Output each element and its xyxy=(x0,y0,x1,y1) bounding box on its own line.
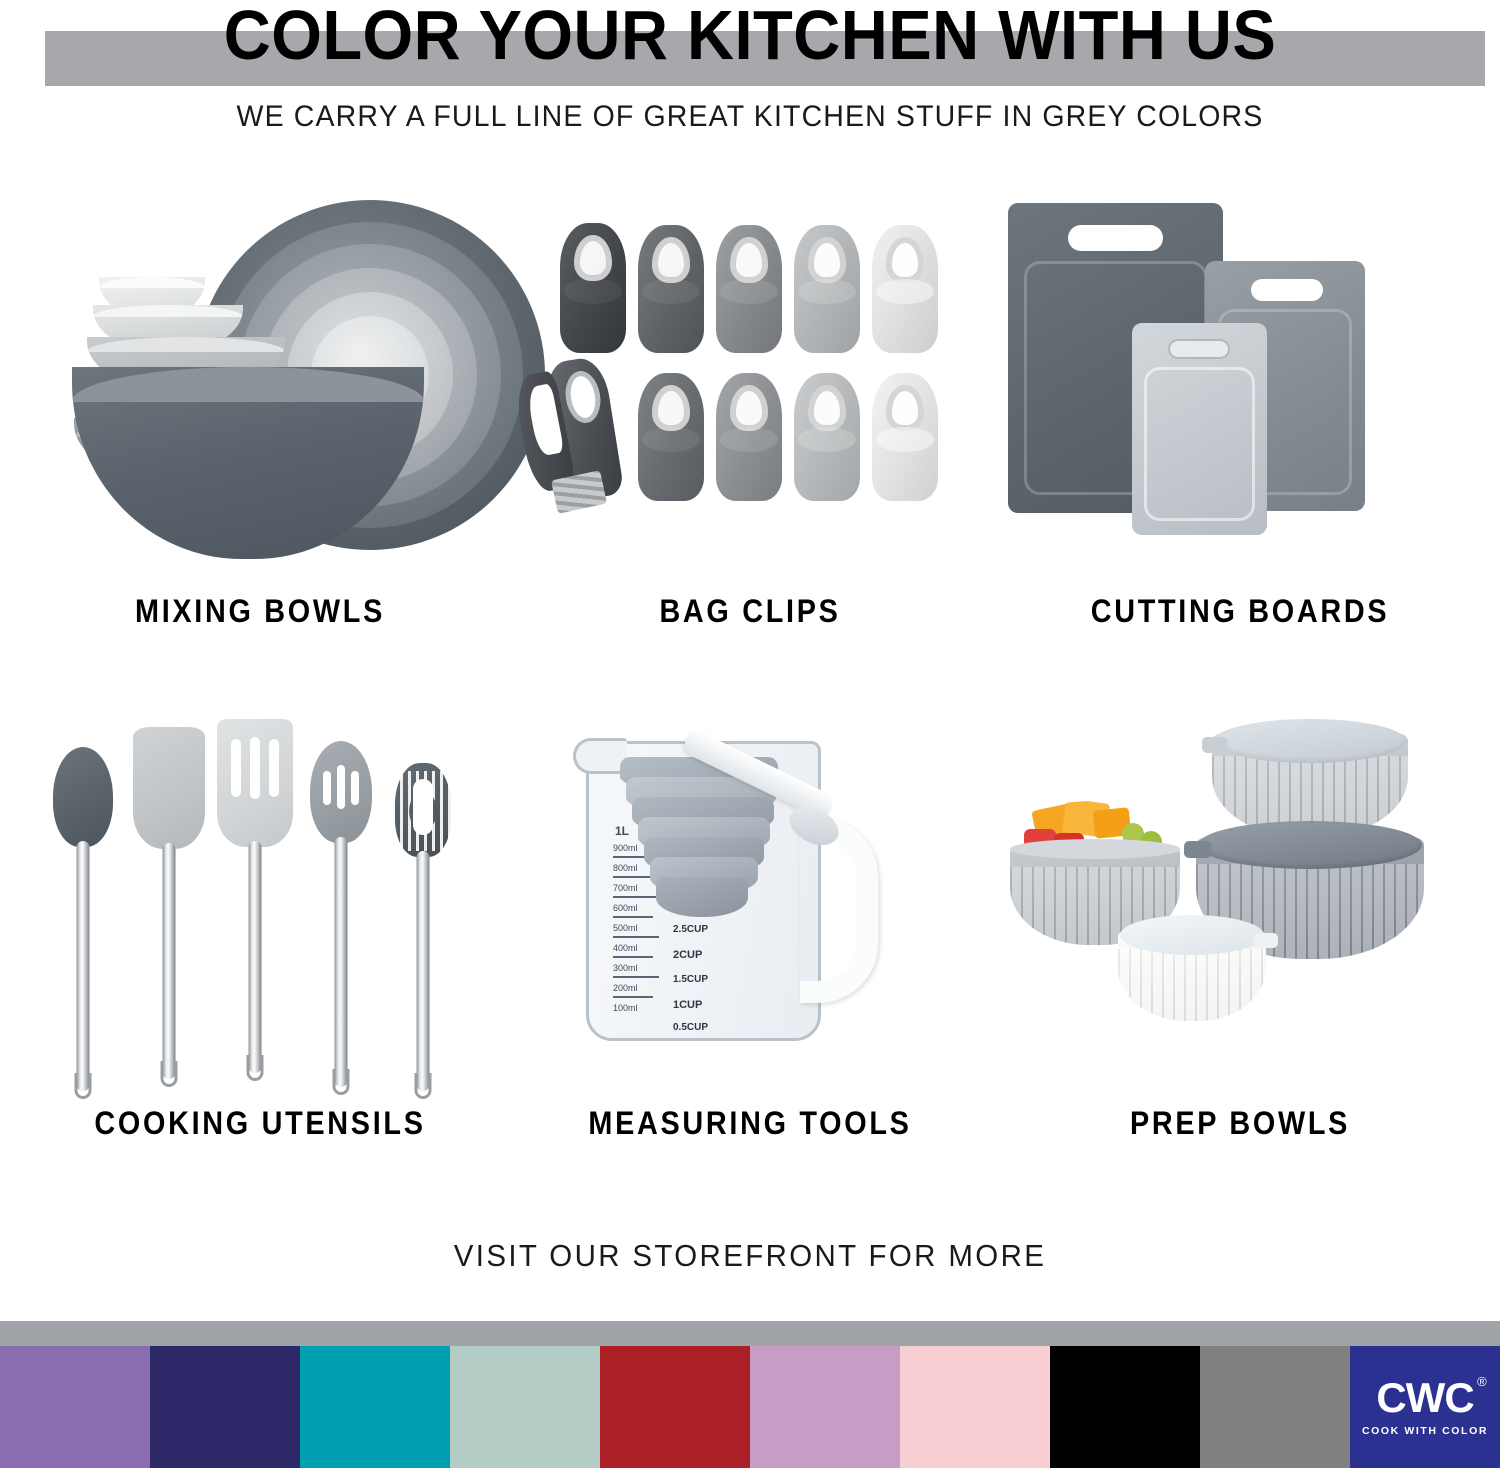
logo-mark-text: CWC xyxy=(1376,1374,1473,1421)
measuring-jug-handle xyxy=(800,817,878,1003)
category-label-prep-bowls: PREP BOWLS xyxy=(1015,1105,1465,1142)
utensil-pasta-server xyxy=(386,745,460,1105)
prep-bowls-image xyxy=(990,705,1490,1105)
prep-bowl-small-white-lid xyxy=(1120,915,1264,955)
swatch-blush xyxy=(900,1346,1050,1468)
swatch-grey xyxy=(1200,1346,1350,1468)
logo-wordmark: CWC ® xyxy=(1376,1377,1473,1419)
product-category-grid: MIXING BOWLS xyxy=(0,175,1500,1225)
bag-clip-9 xyxy=(872,373,938,501)
swatch-black xyxy=(1050,1346,1200,1468)
bag-clip-3 xyxy=(716,225,782,353)
utensil-slotted-spoon xyxy=(304,733,378,1105)
bag-clip-6 xyxy=(638,373,704,501)
category-label-measuring-tools: MEASURING TOOLS xyxy=(525,1105,975,1142)
bag-clip-7 xyxy=(716,373,782,501)
cooking-utensils-image xyxy=(10,705,510,1105)
category-prep-bowls[interactable]: PREP BOWLS xyxy=(990,705,1490,1185)
category-cutting-boards[interactable]: CUTTING BOARDS xyxy=(990,175,1490,675)
category-cooking-utensils[interactable]: COOKING UTENSILS xyxy=(10,705,510,1185)
swatch-top-bar xyxy=(0,1321,1500,1346)
swatch-lilac xyxy=(750,1346,900,1468)
utensil-spoon xyxy=(46,737,120,1105)
prep-bowl-top-lid-tab xyxy=(1202,737,1228,753)
brand-logo: CWC ® COOK WITH COLOR xyxy=(1350,1346,1500,1468)
prep-bowl-bottom-lid-tab xyxy=(1184,841,1212,858)
page-header: COLOR YOUR KITCHEN WITH US WE CARRY A FU… xyxy=(0,0,1500,150)
category-label-cooking-utensils: COOKING UTENSILS xyxy=(35,1105,485,1142)
cutting-boards-image xyxy=(990,175,1490,575)
category-label-cutting-boards: CUTTING BOARDS xyxy=(1015,593,1465,630)
prep-bowl-top-lid xyxy=(1214,719,1406,763)
prep-bowl-bottom-lid xyxy=(1198,821,1422,869)
swatch-sage xyxy=(450,1346,600,1468)
category-bag-clips[interactable]: BAG CLIPS xyxy=(500,175,1000,675)
category-measuring-tools[interactable]: 900ml 800ml 700ml 600ml 500ml 400ml 300m… xyxy=(500,705,1000,1185)
category-mixing-bowls[interactable]: MIXING BOWLS xyxy=(10,175,510,675)
registered-trademark-icon: ® xyxy=(1477,1375,1487,1388)
logo-tagline: COOK WITH COLOR xyxy=(1362,1425,1488,1437)
swatch-teal xyxy=(300,1346,450,1468)
swatch-purple xyxy=(0,1346,150,1468)
mixing-bowls-image xyxy=(10,175,510,575)
storefront-callout: VISIT OUR STOREFRONT FOR MORE xyxy=(38,1238,1463,1274)
bag-clips-image xyxy=(500,175,1000,575)
bag-clip-4 xyxy=(794,225,860,353)
bag-clip-2 xyxy=(638,225,704,353)
cutting-board-small xyxy=(1132,323,1267,535)
measuring-tools-image: 900ml 800ml 700ml 600ml 500ml 400ml 300m… xyxy=(500,705,1000,1105)
bag-clip-1 xyxy=(560,223,626,353)
prep-bowl-fruit-rim xyxy=(1010,839,1180,859)
utensil-slotted-turner xyxy=(218,719,292,1105)
swatch-navy xyxy=(150,1346,300,1468)
bag-clip-side-view xyxy=(518,355,638,515)
category-label-mixing-bowls: MIXING BOWLS xyxy=(35,593,485,630)
prep-bowl-small-white-lid-tab xyxy=(1254,933,1278,948)
swatch-red xyxy=(600,1346,750,1468)
bag-clip-5 xyxy=(872,225,938,353)
page-subtitle: WE CARRY A FULL LINE OF GREAT KITCHEN ST… xyxy=(38,100,1463,134)
utensil-spatula xyxy=(132,725,206,1105)
category-label-bag-clips: BAG CLIPS xyxy=(525,593,975,630)
page-title: COLOR YOUR KITCHEN WITH US xyxy=(53,0,1448,78)
bag-clip-8 xyxy=(794,373,860,501)
color-swatch-strip: CWC ® COOK WITH COLOR xyxy=(0,1346,1500,1468)
